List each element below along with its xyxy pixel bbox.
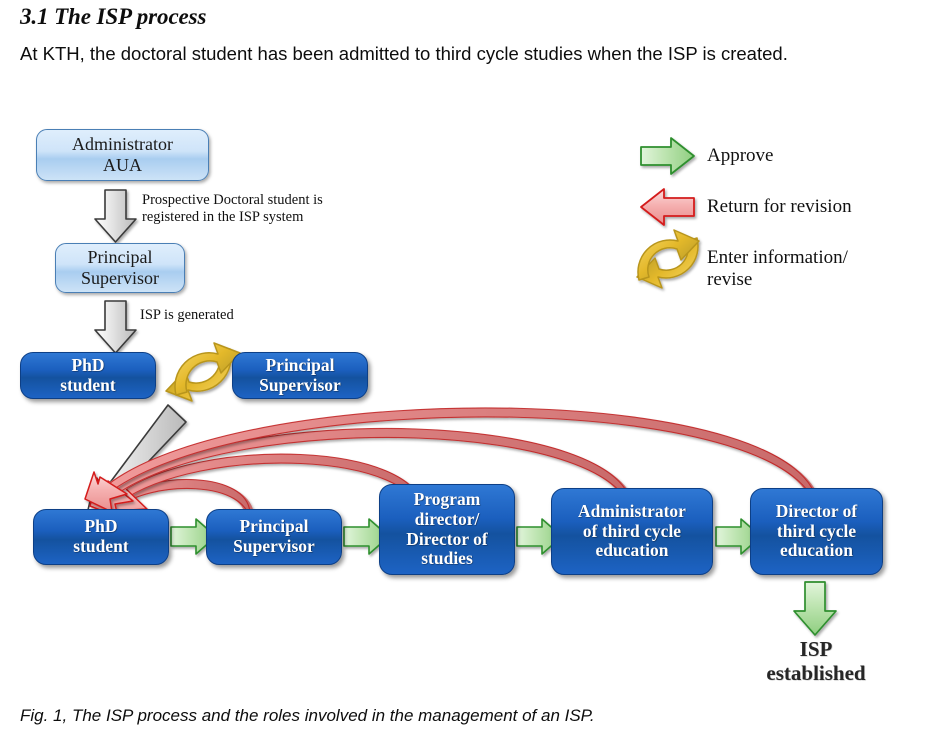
box-label: Program director/ Director of studies xyxy=(406,490,487,568)
isp-established-label: ISP established xyxy=(722,638,910,686)
isp-process-diagram: Administrator AUA Principal Supervisor P… xyxy=(0,95,933,695)
note-registered: Prospective Doctoral student is register… xyxy=(142,192,392,226)
box-label: Principal Supervisor xyxy=(81,247,159,288)
legend-enter-information-icon xyxy=(637,230,699,288)
figure-page: 3.1 The ISP process At KTH, the doctoral… xyxy=(0,0,933,750)
box-label: Administrator of third cycle education xyxy=(578,502,686,561)
box-director-third-cycle[interactable]: Director of third cycle education xyxy=(750,488,883,575)
box-administrator-third-cycle[interactable]: Administrator of third cycle education xyxy=(551,488,713,575)
box-phd-student-mid[interactable]: PhD student xyxy=(20,352,156,399)
legend-approve-label: Approve xyxy=(707,145,927,167)
legend-return-icon xyxy=(641,189,694,225)
grey-diagonal-arrow xyxy=(86,405,186,519)
box-principal-supervisor[interactable]: Principal Supervisor xyxy=(206,509,342,565)
note-generated: ISP is generated xyxy=(140,307,390,324)
box-program-director[interactable]: Program director/ Director of studies xyxy=(379,484,515,575)
box-principal-supervisor-mid[interactable]: Principal Supervisor xyxy=(232,352,368,399)
grey-down-arrow-1 xyxy=(95,190,136,242)
box-phd-student[interactable]: PhD student xyxy=(33,509,169,565)
legend-return-label: Return for revision xyxy=(707,196,927,218)
box-label: PhD student xyxy=(60,356,115,395)
box-label: Principal Supervisor xyxy=(259,356,341,395)
box-administrator-aua[interactable]: Administrator AUA xyxy=(36,129,209,181)
box-principal-supervisor-top[interactable]: Principal Supervisor xyxy=(55,243,185,293)
yellow-circular-arrows-diagram xyxy=(166,343,240,401)
figure-caption: Fig. 1, The ISP process and the roles in… xyxy=(20,706,595,726)
box-label: Administrator AUA xyxy=(72,134,173,175)
box-label: Principal Supervisor xyxy=(233,517,315,556)
green-down-arrow-established xyxy=(794,582,836,635)
legend-enter-label: Enter information/ revise xyxy=(707,247,927,291)
legend-approve-icon xyxy=(641,138,694,174)
page-title: 3.1 The ISP process xyxy=(20,4,206,30)
box-label: Director of third cycle education xyxy=(776,502,857,561)
grey-down-arrow-2 xyxy=(95,301,136,353)
section-paragraph: At KTH, the doctoral student has been ad… xyxy=(20,43,788,65)
box-label: PhD student xyxy=(73,517,128,556)
